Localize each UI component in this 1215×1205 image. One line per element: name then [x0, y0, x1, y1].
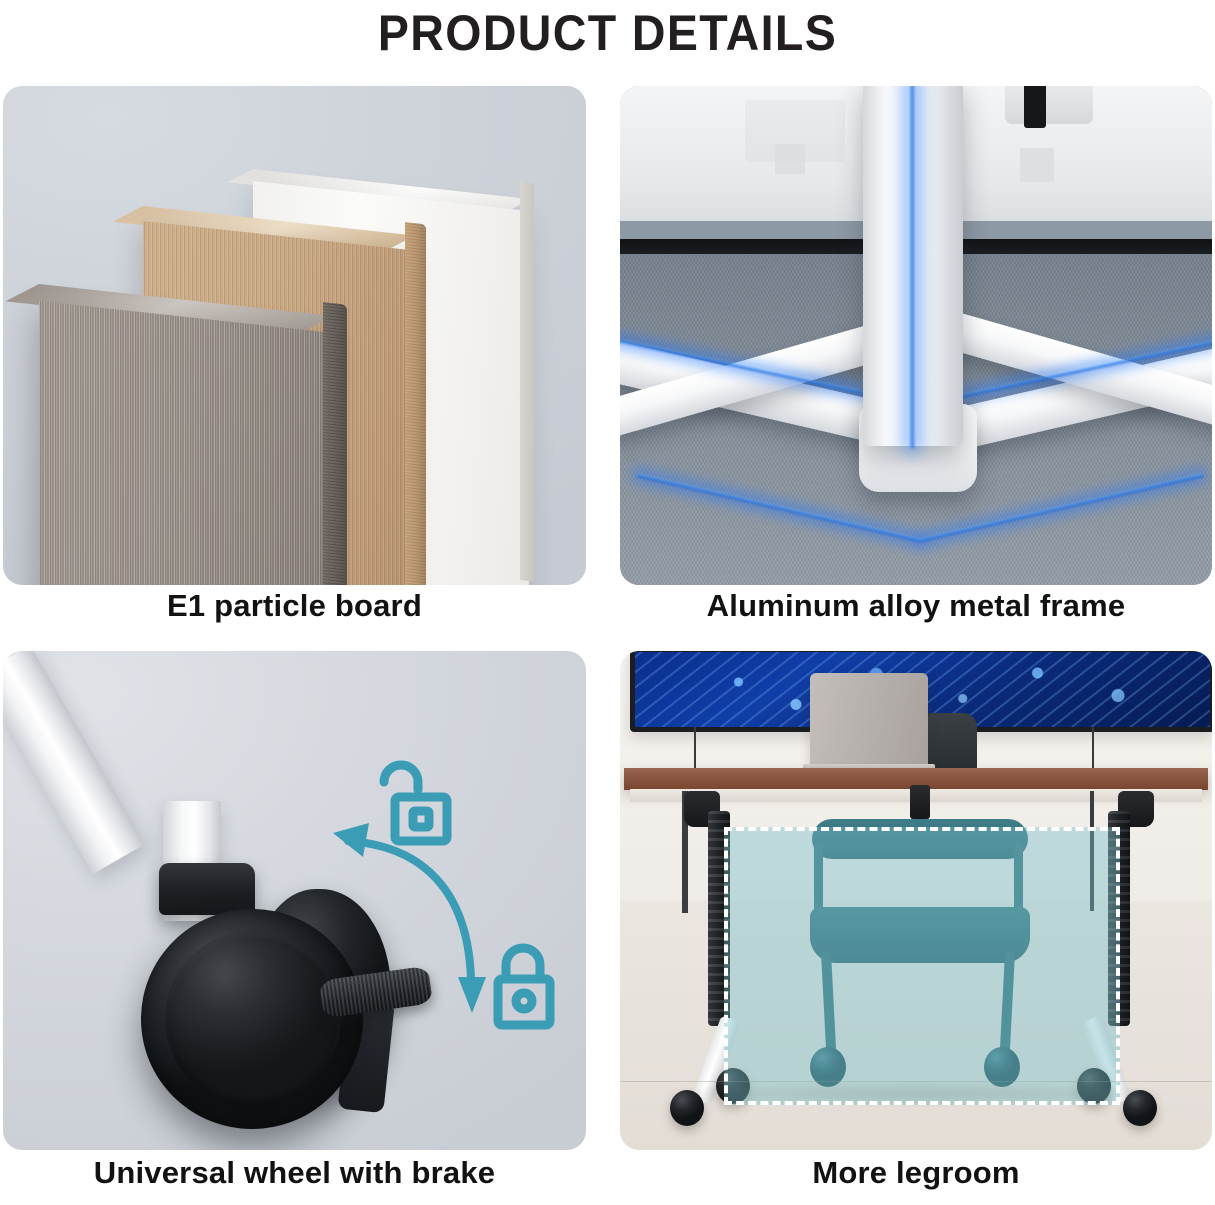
ceiling-mount: [1005, 86, 1093, 124]
universal-wheel-photo: [3, 651, 586, 1150]
panel-particle-board: [3, 86, 586, 585]
chair-headrest: [927, 713, 977, 769]
curved-arrow-head-down: [458, 977, 486, 1013]
panel-metal-frame: [620, 86, 1212, 585]
blue-glow-column: [908, 86, 916, 448]
wall-outlet-shape-2: [1020, 148, 1054, 182]
lock-icon: [498, 948, 550, 1025]
panel-more-legroom: [620, 651, 1212, 1150]
gray-board-front-face: [39, 301, 331, 585]
curved-arrow-head-left: [333, 823, 369, 857]
oak-board-side-edge: [405, 222, 426, 585]
page-title: PRODUCT DETAILS: [43, 2, 1173, 64]
more-legroom-photo: [620, 651, 1212, 1150]
legroom-highlight-area: [724, 827, 1120, 1105]
laptop-screen: [810, 673, 928, 767]
curved-arrow-icon: [348, 841, 471, 979]
particle-board-photo: [3, 86, 586, 585]
caption-more-legroom: More legroom: [620, 1155, 1212, 1191]
metal-frame-photo: [620, 86, 1212, 585]
ceiling-mount-slot: [1024, 86, 1046, 128]
caption-universal-wheel: Universal wheel with brake: [3, 1155, 586, 1191]
product-details-infographic: PRODUCT DETAILS E1 particle board: [0, 0, 1215, 1205]
white-board-side-edge: [520, 182, 534, 582]
display-cable-left: [694, 727, 696, 772]
wall-outlet-shape: [775, 144, 805, 174]
brake-indicator-diagram: [3, 651, 586, 1150]
caption-metal-frame: Aluminum alloy metal frame: [620, 588, 1212, 624]
fold-hinge-center: [910, 785, 930, 819]
unlock-icon: [384, 765, 447, 841]
gray-board-side-edge: [323, 302, 347, 585]
caption-particle-board: E1 particle board: [3, 588, 586, 624]
panel-universal-wheel: [3, 651, 586, 1150]
